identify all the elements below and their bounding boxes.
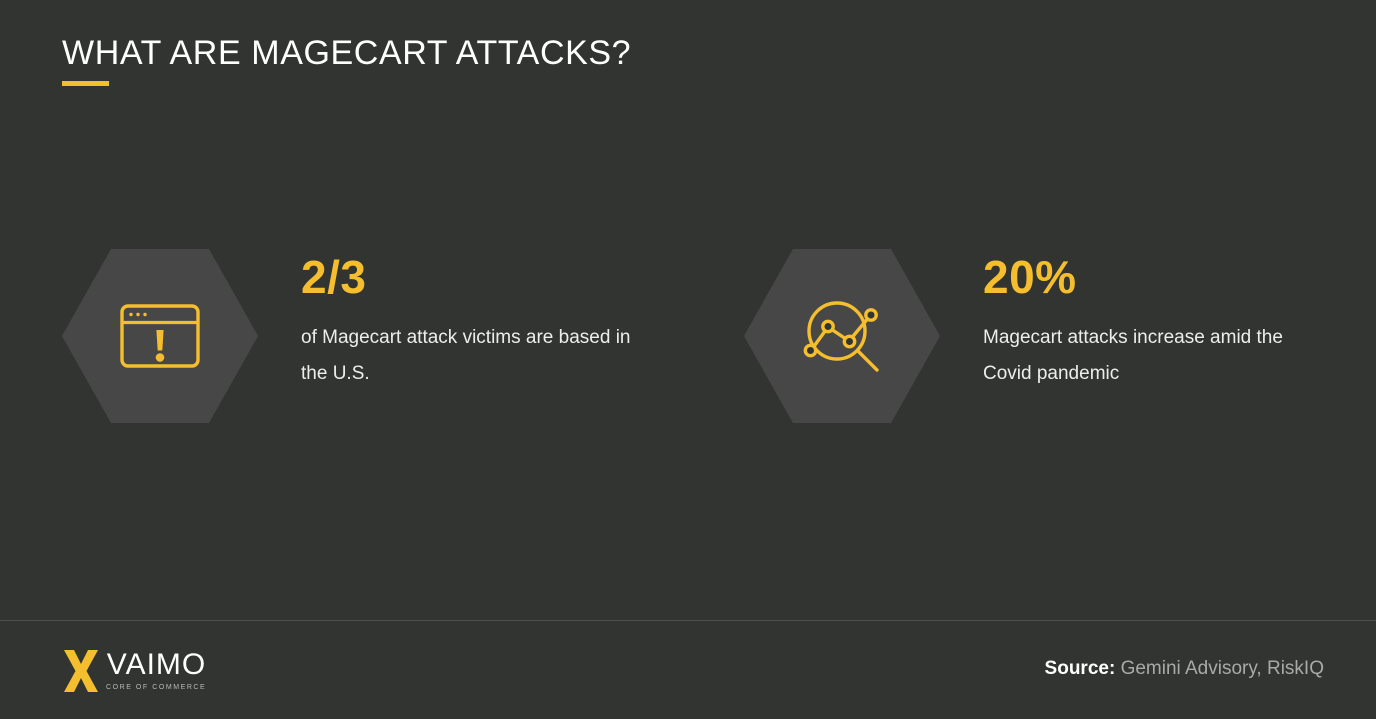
vaimo-logo: VAIMO CORE OF COMMERCE: [62, 645, 206, 697]
magnifier-analytics-icon: [790, 284, 894, 388]
source-attribution: Source: Gemini Advisory, RiskIQ: [1045, 657, 1324, 681]
source-value: Gemini Advisory, RiskIQ: [1121, 658, 1324, 679]
stat-number: 20%: [983, 249, 1313, 305]
stat-icon-hexagon: [744, 249, 940, 423]
stat-text: 2/3 of Magecart attack victims are based…: [301, 249, 631, 392]
stat-description: of Magecart attack victims are based in …: [301, 320, 631, 392]
stats-row: 2/3 of Magecart attack victims are based…: [0, 249, 1376, 429]
browser-window-alert-icon: [108, 284, 212, 388]
vaimo-x-icon: [62, 649, 100, 693]
vaimo-tagline: CORE OF COMMERCE: [106, 682, 206, 693]
page-title: WHAT ARE MAGECART ATTACKS?: [62, 34, 631, 73]
stat-icon-hexagon: [62, 249, 258, 423]
stat-number: 2/3: [301, 249, 631, 305]
title-accent-bar: [62, 81, 109, 86]
stat-text: 20% Magecart attacks increase amid the C…: [983, 249, 1313, 392]
vaimo-wordmark: VAIMO CORE OF COMMERCE: [106, 650, 206, 693]
infographic-slide: WHAT ARE MAGECART ATTACKS? 2/3 of Mage: [0, 0, 1376, 719]
vaimo-name: VAIMO: [107, 650, 206, 680]
source-label: Source:: [1045, 658, 1116, 679]
stat-description: Magecart attacks increase amid the Covid…: [983, 320, 1313, 392]
footer: VAIMO CORE OF COMMERCE Source: Gemini Ad…: [0, 621, 1376, 719]
